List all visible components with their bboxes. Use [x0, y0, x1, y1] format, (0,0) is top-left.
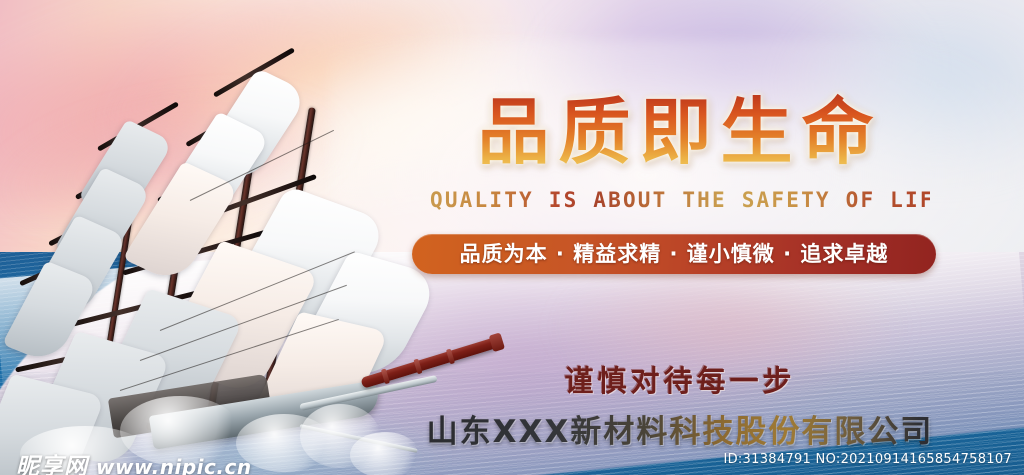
watermark-id-line: ID:31384791 NO:20210914165854758107 — [723, 452, 1012, 467]
page-title: 品质即生命 — [430, 88, 930, 176]
watermark-logo: 昵享网 — [16, 447, 88, 475]
slogan-banner-text: 品质为本 · 精益求精 · 谨小慎微 · 追求卓越 — [412, 234, 936, 274]
watermark-url: www.nipic.cn — [96, 455, 252, 475]
poster-canvas: 品质即生命 QUALITY IS ABOUT THE SAFETY OF LIF… — [0, 0, 1024, 475]
watermark: 昵享网 www.nipic.cn — [16, 447, 252, 475]
company-name: 山东XXX新材料科技股份有限公司 — [410, 406, 950, 451]
slogan-banner: 品质为本 · 精益求精 · 谨小慎微 · 追求卓越 — [412, 234, 936, 274]
page-subtitle: QUALITY IS ABOUT THE SAFETY OF LIFE — [430, 188, 930, 212]
secondary-slogan: 谨慎对待每一步 — [430, 358, 930, 400]
